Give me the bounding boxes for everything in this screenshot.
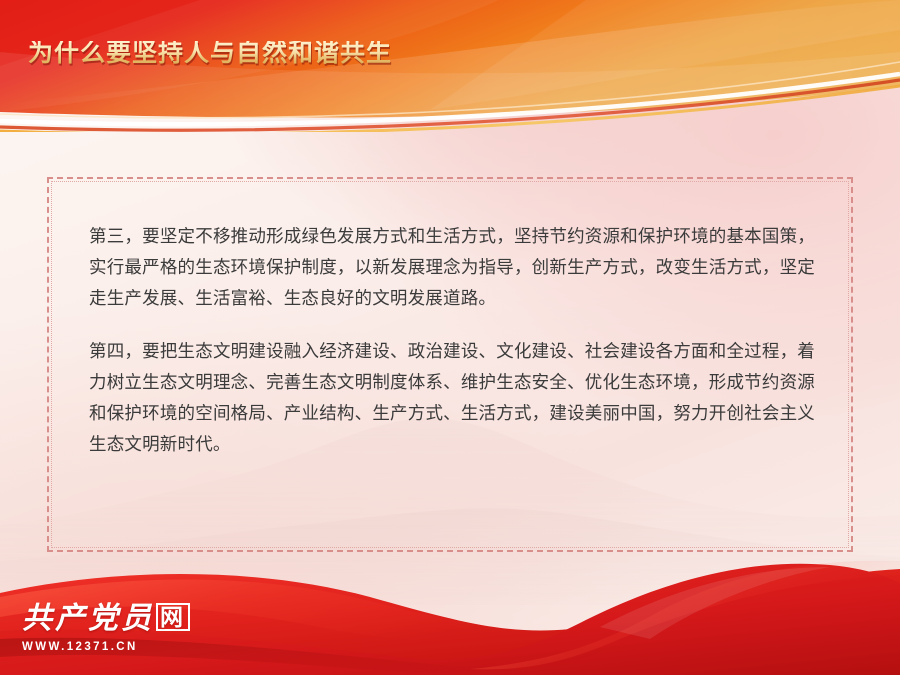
body-text-block: 第三，要坚定不移推动形成绿色发展方式和生活方式，坚持节约资源和保护环境的基本国策…	[89, 221, 815, 460]
paragraph-fourth: 第四，要把生态文明建设融入经济建设、政治建设、文化建设、社会建设各方面和全过程，…	[89, 336, 815, 460]
logo-wordmark-suffix: 网	[156, 603, 190, 631]
site-logo[interactable]: 共产党员网 WWW.12371.CN	[22, 603, 227, 653]
logo-url: WWW.12371.CN	[22, 641, 227, 653]
logo-wordmark: 共产党员网	[22, 603, 227, 634]
content-frame: 第三，要坚定不移推动形成绿色发展方式和生活方式，坚持节约资源和保护环境的基本国策…	[47, 177, 853, 552]
logo-wordmark-main: 共产党员	[22, 602, 154, 635]
slide-root: 为什么要坚持人与自然和谐共生 第三，要坚定不移推动形成绿色发展方式和生活方式，坚…	[0, 0, 900, 675]
paragraph-third: 第三，要坚定不移推动形成绿色发展方式和生活方式，坚持节约资源和保护环境的基本国策…	[89, 221, 815, 314]
page-title: 为什么要坚持人与自然和谐共生	[28, 41, 392, 66]
header-banner: 为什么要坚持人与自然和谐共生	[0, 0, 900, 132]
